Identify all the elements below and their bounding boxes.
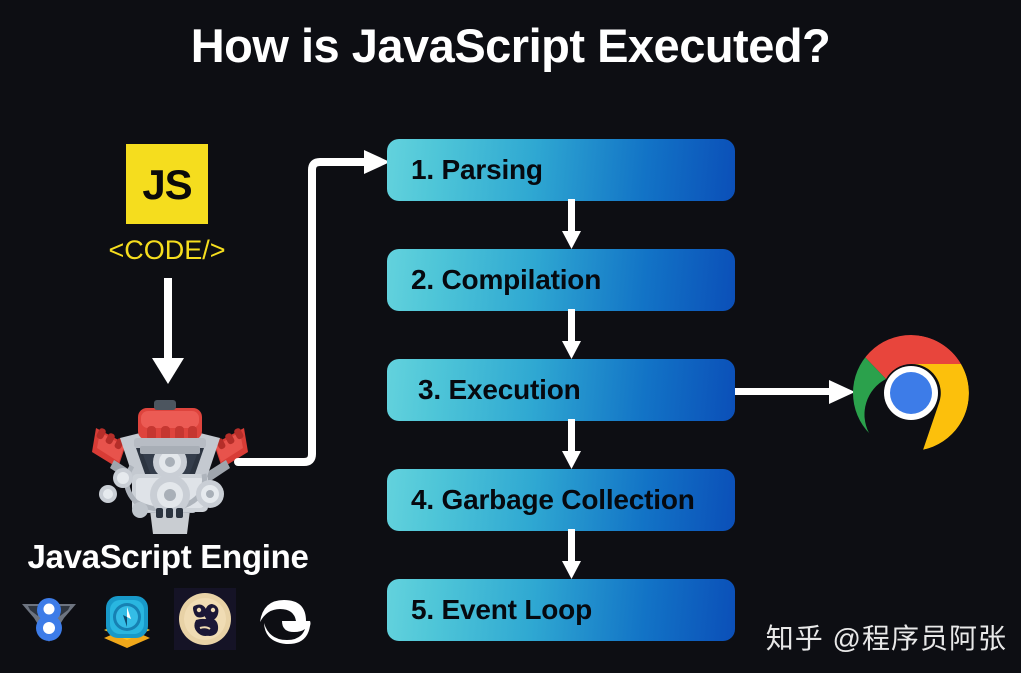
engine-to-parsing-arrow: [232, 150, 396, 472]
code-tag-label: <CODE/>: [96, 235, 238, 266]
flow-step-execution[interactable]: 3. Execution: [387, 359, 735, 421]
flow-step-label: 5. Event Loop: [387, 594, 592, 626]
js-to-engine-arrow: [146, 278, 190, 390]
garbage-collection-to-event-loop-arrow: [560, 529, 584, 581]
flow-step-parsing[interactable]: 1. Parsing: [387, 139, 735, 201]
execution-to-chrome-arrow: [731, 378, 857, 408]
flow-step-event-loop[interactable]: 5. Event Loop: [387, 579, 735, 641]
engine-label: JavaScript Engine: [0, 538, 336, 576]
flow-step-label: 4. Garbage Collection: [387, 484, 695, 516]
js-logo-label: JS: [142, 164, 191, 206]
flow-step-compilation[interactable]: 2. Compilation: [387, 249, 735, 311]
javascriptcore-nitro-icon: [96, 588, 158, 650]
js-logo-square: JS: [126, 144, 208, 224]
watermark: 知乎 @程序员阿张: [766, 617, 1007, 657]
js-source-code-logo: JS <CODE/>: [96, 144, 238, 266]
v8-engine-icon: [18, 588, 80, 650]
page-title: How is JavaScript Executed?: [0, 18, 1021, 73]
javascript-engine-illustration: [92, 382, 248, 534]
flow-step-label: 1. Parsing: [387, 154, 543, 186]
flow-step-garbage-collection[interactable]: 4. Garbage Collection: [387, 469, 735, 531]
edge-chakra-icon: [252, 588, 314, 650]
engine-implementations-row: [18, 586, 318, 652]
execution-to-garbage-collection-arrow: [560, 419, 584, 471]
compilation-to-execution-arrow: [560, 309, 584, 361]
flow-step-label: 2. Compilation: [387, 264, 601, 296]
spidermonkey-icon: [174, 588, 236, 650]
infographic-canvas: How is JavaScript Executed? JS <CODE/>: [0, 0, 1021, 673]
flow-step-label: 3. Execution: [387, 374, 581, 406]
parsing-to-compilation-arrow: [560, 199, 584, 251]
google-chrome-icon: [851, 333, 971, 453]
